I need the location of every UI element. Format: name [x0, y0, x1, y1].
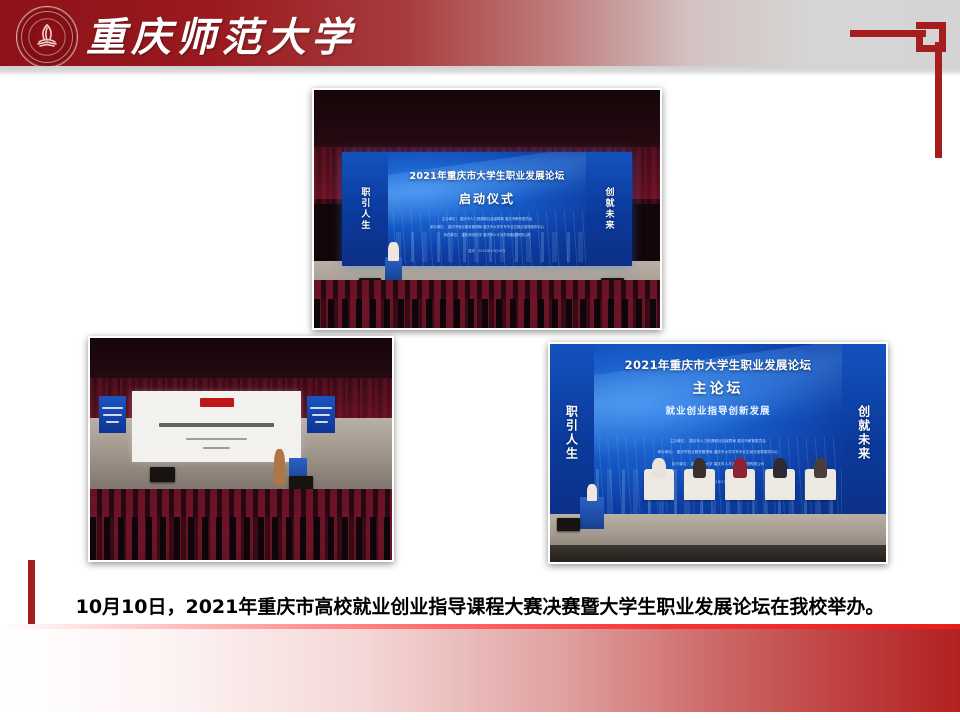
stage-monitor-left: [150, 467, 174, 483]
side-screen-right-text: 创业指导课程: [307, 396, 308, 397]
top-right-corner-ornament-icon: [850, 8, 960, 158]
led-title: 2021年重庆市大学生职业发展论坛: [388, 168, 586, 182]
host-person: [587, 484, 597, 501]
stage-front-edge: [550, 545, 886, 562]
led-screen-main-forum: 职引人生 创就未来 2021年重庆市大学生职业发展论坛 主论坛 就业创业指导创新…: [550, 344, 886, 523]
footer-base-strip: [0, 712, 960, 720]
led-date-line: 重庆 · 2021年10月10日: [388, 248, 586, 253]
university-wordmark: 重庆师范大学: [86, 5, 356, 63]
led-title: 2021年重庆市大学生职业发展论坛: [594, 357, 843, 373]
seal-emblem-icon: [27, 17, 67, 57]
university-name-text: 重庆师范大学: [86, 5, 356, 63]
led-subtitle: 启动仪式: [388, 190, 586, 207]
slide-badge-text: 中国人才大市场: [132, 391, 133, 392]
led-left-banner: 职引人生: [342, 152, 389, 266]
panelist-person: [693, 458, 706, 478]
slide-title-line: [159, 423, 274, 427]
slide-subnote-line: [203, 447, 230, 449]
side-screen-left: 2021年重庆市高校就业: [99, 396, 126, 434]
footer-accent-stripe: [0, 624, 960, 629]
slide-logo-badge: [200, 398, 234, 407]
slide-subnote-text: 重庆站: [132, 391, 133, 392]
audience-heads: [90, 517, 392, 560]
auditorium-hall: 大学生涯规划：年轻就是你的本钱 中国人才大市场生涯讲师团 中国人才大市场 重庆站…: [90, 338, 392, 560]
panelist-person: [773, 458, 786, 478]
speaker-person: [388, 242, 398, 261]
auditorium-hall: 职引人生 创就未来 2021年重庆市大学生职业发展论坛 主论坛 就业创业指导创新…: [550, 344, 886, 562]
auditorium-hall: 职引人生 创就未来 2021年重庆市大学生职业发展论坛 启动仪式 主办单位： 重…: [314, 90, 660, 328]
led-right-banner: 创就未来: [586, 152, 633, 266]
presenter-person: [274, 449, 285, 485]
led-right-banner-text: 创就未来: [856, 405, 873, 461]
led-left-banner-text: 职引人生: [358, 187, 371, 231]
led-left-banner-text: 职引人生: [563, 405, 580, 461]
photo-opening-ceremony[interactable]: 职引人生 创就未来 2021年重庆市大学生职业发展论坛 启动仪式 主办单位： 重…: [312, 88, 662, 330]
led-detail: 就业创业指导创新发展: [594, 403, 843, 417]
led-organizer-line-2: 承办单位： 重庆市就业服务管理局 重庆市大学中专毕业生就业指导服务中心: [404, 225, 570, 230]
slide-presenter-line: [186, 438, 247, 440]
university-seal-icon: [16, 6, 78, 68]
panelist-person: [733, 458, 746, 478]
panelist-person: [814, 458, 827, 478]
audience-heads: [314, 299, 660, 328]
led-organizer-line-2: 承办单位： 重庆市就业服务管理局 重庆市大学中专毕业生就业指导服务中心: [614, 450, 823, 455]
caption-bar: 10月10日，2021年重庆市高校就业创业指导课程大赛决赛暨大学生职业发展论坛在…: [0, 588, 960, 622]
panelist-person: [652, 458, 665, 478]
audience-area: [90, 489, 392, 560]
page-header: 重庆师范大学: [0, 0, 960, 66]
led-organizer-line-3: 执行单位： 重庆师范大学 重庆市人才大市场集团有限公司: [404, 233, 570, 238]
podium: [580, 497, 604, 530]
photo-course-competition[interactable]: 大学生涯规划：年轻就是你的本钱 中国人才大市场生涯讲师团 中国人才大市场 重庆站…: [88, 336, 394, 562]
presentation-slide: 重庆师范大学: [0, 0, 960, 720]
side-screen-right: 创业指导课程: [307, 396, 334, 434]
audience-area: [314, 280, 660, 328]
footer-band: [0, 624, 960, 720]
side-screen-left-text: 2021年重庆市高校就业: [99, 396, 100, 397]
slide-title-text: 大学生涯规划：年轻就是你的本钱: [132, 391, 133, 392]
led-organizer-line-1: 主办单位： 重庆市人力资源和社会保障局 重庆市教育委员会: [614, 439, 823, 444]
led-subtitle: 主论坛: [594, 378, 843, 398]
led-right-banner: 创就未来: [842, 344, 886, 523]
led-organizer-line-3: 执行单位： 重庆师范大学 重庆市人才大市场集团有限公司: [614, 462, 823, 467]
caption-text: 10月10日，2021年重庆市高校就业创业指导课程大赛决赛暨大学生职业发展论坛在…: [76, 592, 885, 619]
stage-monitor-left: [557, 518, 581, 531]
led-organizer-line-1: 主办单位： 重庆市人力资源和社会保障局 重庆市教育委员会: [404, 217, 570, 222]
slide-presenter-text: 中国人才大市场生涯讲师团: [132, 391, 133, 392]
header-shadow-divider: [0, 66, 960, 76]
photo-main-forum[interactable]: 职引人生 创就未来 2021年重庆市大学生职业发展论坛 主论坛 就业创业指导创新…: [548, 342, 888, 564]
led-right-banner-text: 创就未来: [603, 187, 616, 231]
led-screen-opening: 职引人生 创就未来 2021年重庆市大学生职业发展论坛 启动仪式 主办单位： 重…: [342, 152, 633, 266]
led-center-content: 2021年重庆市大学生职业发展论坛 启动仪式 主办单位： 重庆市人力资源和社会保…: [388, 152, 586, 266]
